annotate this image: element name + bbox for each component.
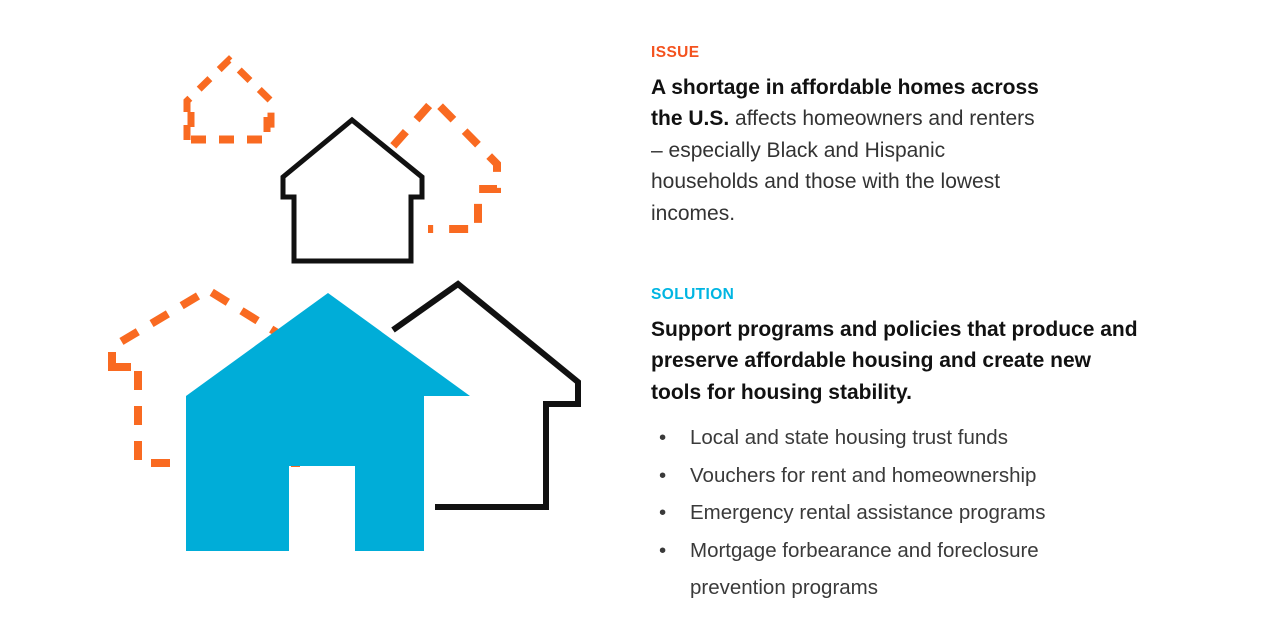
- issue-kicker: ISSUE: [651, 44, 1151, 63]
- list-item-label: Local and state housing trust funds: [690, 419, 1130, 457]
- bullet-icon: •: [659, 457, 666, 495]
- list-item-label: Emergency rental assistance programs: [690, 494, 1130, 532]
- solution-lede: Support programs and policies that produ…: [651, 314, 1141, 409]
- solution-kicker: SOLUTION: [651, 286, 1151, 305]
- list-item: • Emergency rental assistance programs: [651, 494, 1130, 532]
- bullet-icon: •: [659, 532, 666, 570]
- list-item: • Mortgage forbearance and foreclosure p…: [651, 532, 1130, 607]
- solution-bullet-list: • Local and state housing trust funds • …: [651, 419, 1151, 607]
- issue-lede: A shortage in affordable homes across th…: [651, 72, 1051, 230]
- text-column: ISSUE A shortage in affordable homes acr…: [651, 0, 1171, 640]
- page-root: ISSUE A shortage in affordable homes acr…: [0, 0, 1280, 640]
- issue-section: ISSUE A shortage in affordable homes acr…: [651, 44, 1151, 229]
- list-item-label: Vouchers for rent and homeownership: [690, 457, 1130, 495]
- bullet-icon: •: [659, 494, 666, 532]
- bullet-icon: •: [659, 419, 666, 457]
- solution-section: SOLUTION Support programs and policies t…: [651, 286, 1151, 607]
- list-item: • Vouchers for rent and homeownership: [651, 457, 1130, 495]
- list-item: • Local and state housing trust funds: [651, 419, 1130, 457]
- list-item-label: Mortgage forbearance and foreclosure pre…: [690, 532, 1130, 607]
- small-dashed-orange-house: [187, 60, 271, 140]
- houses-illustration-svg: [0, 0, 640, 640]
- houses-illustration: [0, 0, 640, 640]
